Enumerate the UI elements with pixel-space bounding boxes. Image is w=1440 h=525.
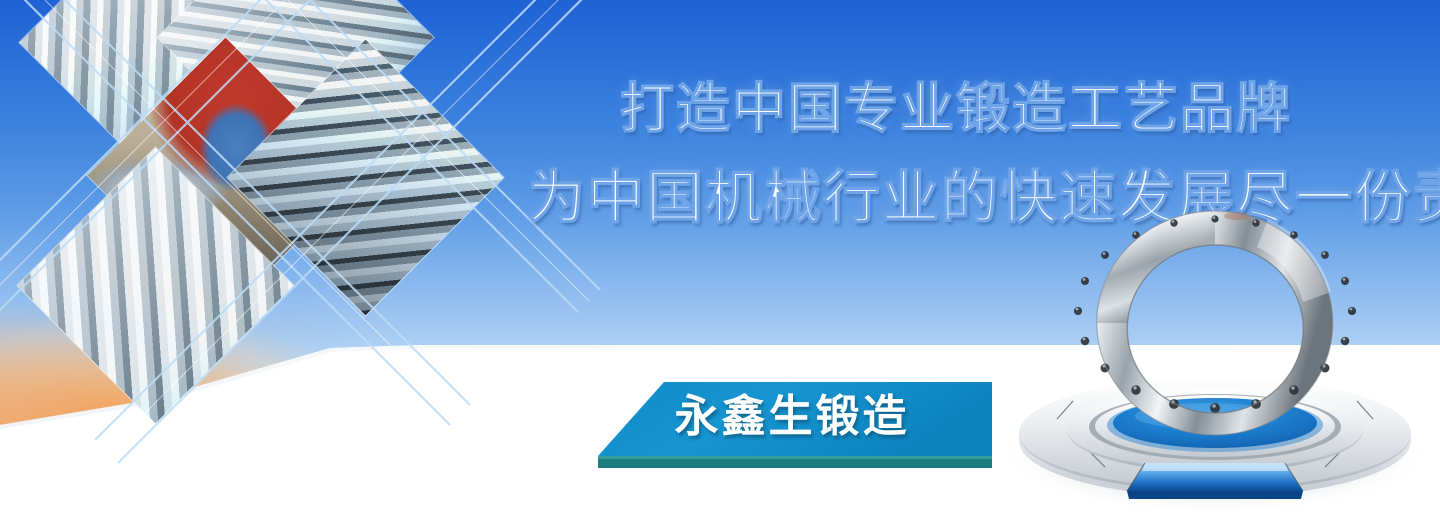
plaque-brand-text: 永鑫生锻造	[592, 378, 992, 450]
forged-ring-photo-collage	[0, 0, 520, 420]
brand-plaque: 永鑫生锻造	[592, 378, 992, 478]
forged-flange-ring	[985, 205, 1440, 525]
headline-primary: 打造中国专业锻造工艺品牌	[620, 64, 1292, 143]
promo-banner: 打造中国专业锻造工艺品牌 为中国机械行业的快速发展尽一份责任	[0, 0, 1440, 525]
